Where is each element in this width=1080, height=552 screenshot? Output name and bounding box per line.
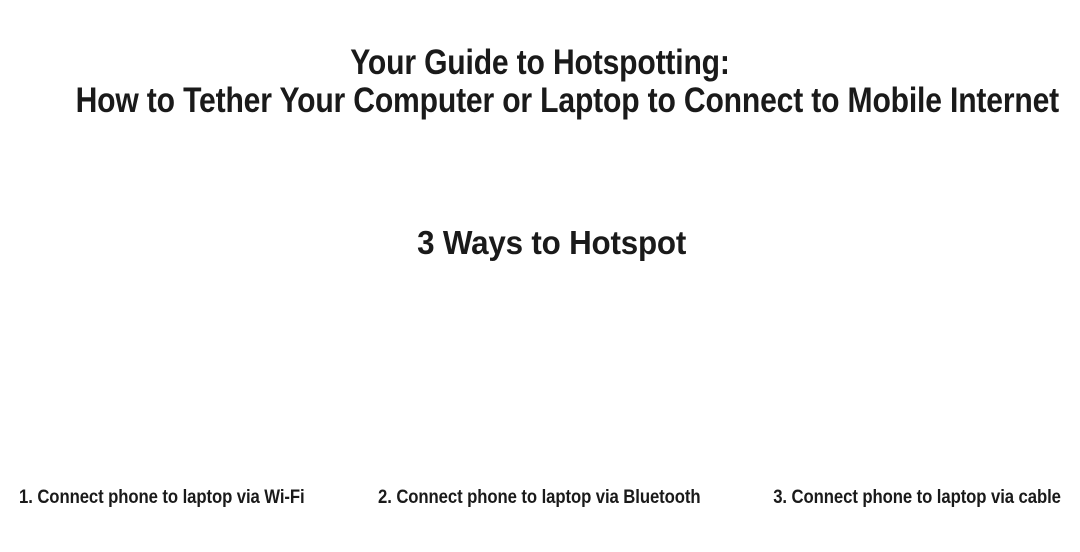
step-caption-row: 1. Connect phone to laptop via Wi-Fi 2. … [0,486,1080,510]
page-title-line-2: How to Tether Your Computer or Laptop to… [76,82,1005,120]
section-heading-label: 3 Ways to Hotspot [417,225,686,261]
step-illustration-bluetooth [360,280,720,475]
section-heading: 3 Ways to Hotspot [0,225,1080,261]
article-infographic: Your Guide to Hotspotting: How to Tether… [0,0,1080,552]
step-caption-wifi: 1. Connect phone to laptop via Wi-Fi [19,486,305,510]
step-caption-cable: 3. Connect phone to laptop via cable [773,486,1061,510]
page-title: Your Guide to Hotspotting: How to Tether… [0,44,1080,120]
step-illustration-wifi [0,280,360,475]
steps-illustration-row [0,280,1080,475]
step-caption-bluetooth: 2. Connect phone to laptop via Bluetooth [378,486,701,510]
step-illustration-cable [720,280,1080,475]
page-title-line-1: Your Guide to Hotspotting: [76,44,1005,82]
